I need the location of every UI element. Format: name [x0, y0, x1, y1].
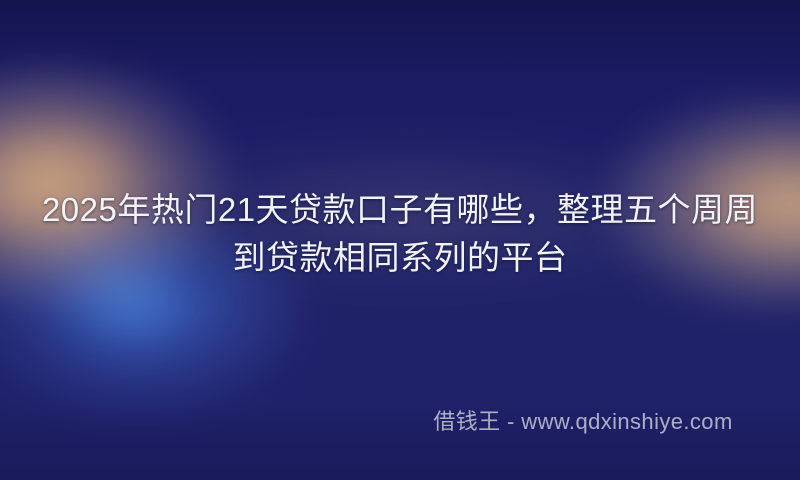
headline-text: 2025年热门21天贷款口子有哪些，整理五个周周 到贷款相同系列的平台 [0, 186, 800, 282]
banner-image: 2025年热门21天贷款口子有哪些，整理五个周周 到贷款相同系列的平台 借钱王 … [0, 0, 800, 480]
watermark-label: 借钱王 - www.qdxinshiye.com [433, 408, 732, 436]
watermark: 借钱王 - www.qdxinshiye.com [0, 408, 800, 436]
